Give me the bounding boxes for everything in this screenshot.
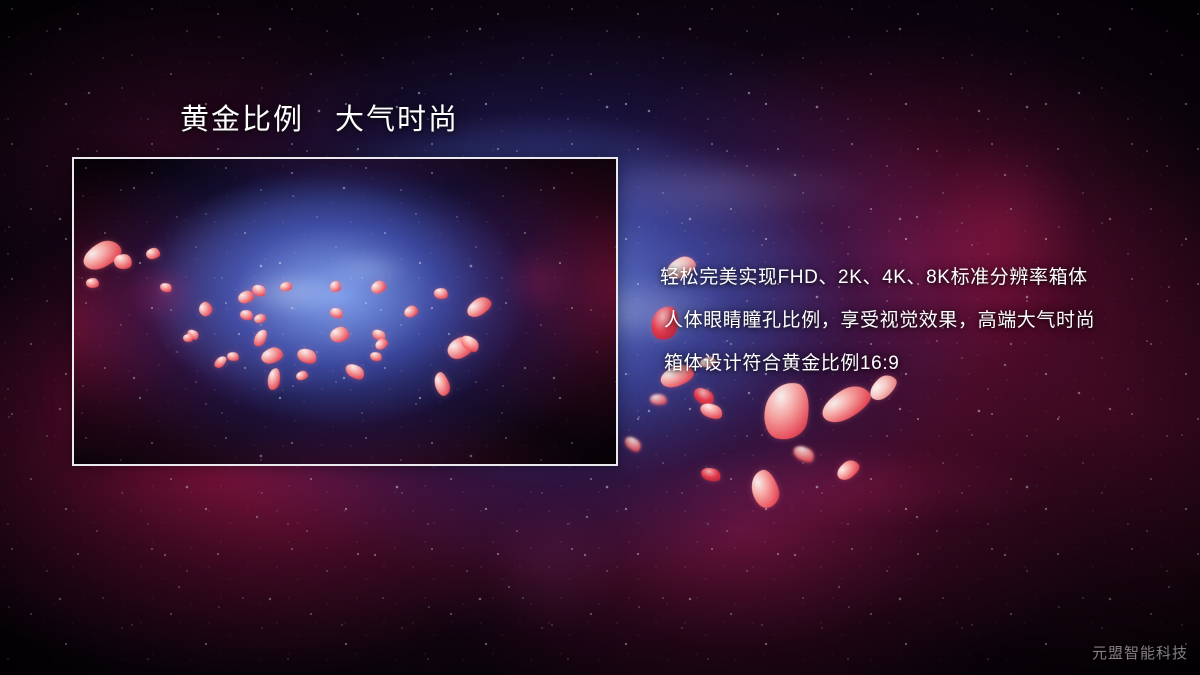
petal xyxy=(622,434,643,455)
petal xyxy=(649,393,667,406)
petal xyxy=(691,384,718,409)
petal xyxy=(698,400,725,422)
petal xyxy=(759,378,814,444)
petal xyxy=(834,457,863,484)
petal xyxy=(816,379,875,428)
description-line-1: 轻松完美实现FHD、2K、4K、8K标准分辨率箱体 xyxy=(660,256,1180,299)
preview-image xyxy=(74,159,616,464)
slide-canvas: 黄金比例 大气时尚 轻松完美实现FHD、2K、4K、8K标准分辨率箱体 人体眼睛… xyxy=(0,0,1200,675)
petal xyxy=(699,465,722,484)
framed-preview-panel[interactable] xyxy=(72,157,618,466)
petal xyxy=(747,467,782,511)
page-title: 黄金比例 大气时尚 xyxy=(180,102,459,138)
feature-description: 轻松完美实现FHD、2K、4K、8K标准分辨率箱体 人体眼睛瞳孔比例，享受视觉效… xyxy=(660,256,1180,385)
petal xyxy=(791,442,817,465)
description-line-3: 箱体设计符合黄金比例16:9 xyxy=(660,342,1180,385)
preview-wisps xyxy=(74,159,616,464)
brand-watermark: 元盟智能科技 xyxy=(1092,642,1188,663)
description-line-2: 人体眼睛瞳孔比例，享受视觉效果，高端大气时尚 xyxy=(660,299,1180,342)
